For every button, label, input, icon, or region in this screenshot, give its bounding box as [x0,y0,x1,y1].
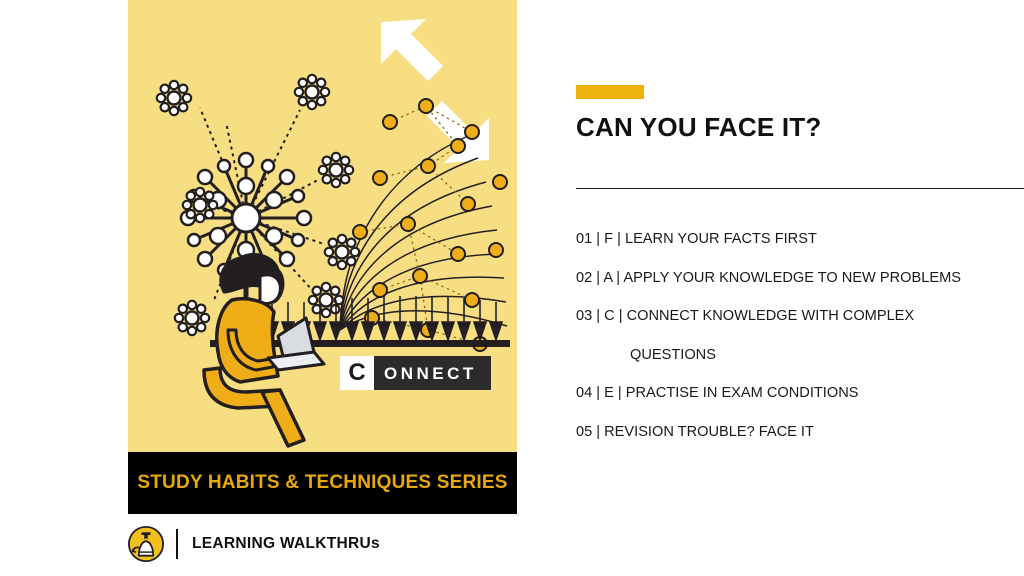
title-divider [576,188,1024,189]
list-item: 05 | REVISION TROUBLE? FACE IT [548,425,1024,440]
list-item: QUESTIONS [548,348,1024,363]
steps-list: 01 | F | LEARN YOUR FACTS FIRST02 | A | … [548,232,1024,464]
list-item: 02 | A | APPLY YOUR KNOWLEDGE TO NEW PRO… [548,271,1024,286]
content-column: CAN YOU FACE IT? 01 | F | LEARN YOUR FAC… [576,0,1024,576]
slide-canvas: C ONNECT STUDY HABITS & TECHNIQUES SERIE… [0,0,1024,576]
resize-arrows-icon [381,19,489,163]
list-item: 03 | C | CONNECT KNOWLEDGE WITH COMPLEX [548,309,1024,324]
page-title: CAN YOU FACE IT? [576,112,821,143]
poster-illustration: C ONNECT [128,0,517,452]
connect-badge: C ONNECT [340,356,491,390]
list-item: 01 | F | LEARN YOUR FACTS FIRST [548,232,1024,247]
person-with-laptop-illustration [204,254,324,446]
poster-caption: STUDY HABITS & TECHNIQUES SERIES [128,452,517,514]
accent-bar [576,85,644,99]
poster-panel: C ONNECT STUDY HABITS & TECHNIQUES SERIE… [128,0,517,514]
learning-walkthrus-logo-icon [128,526,164,562]
brand-logo-row: LEARNING WALKTHRUs [128,524,380,564]
logo-divider [176,529,178,559]
connect-badge-text: ONNECT [374,356,491,390]
connect-badge-initial: C [340,356,374,390]
list-item: 04 | E | PRACTISE IN EXAM CONDITIONS [548,386,1024,401]
brand-name: LEARNING WALKTHRUs [192,535,380,553]
